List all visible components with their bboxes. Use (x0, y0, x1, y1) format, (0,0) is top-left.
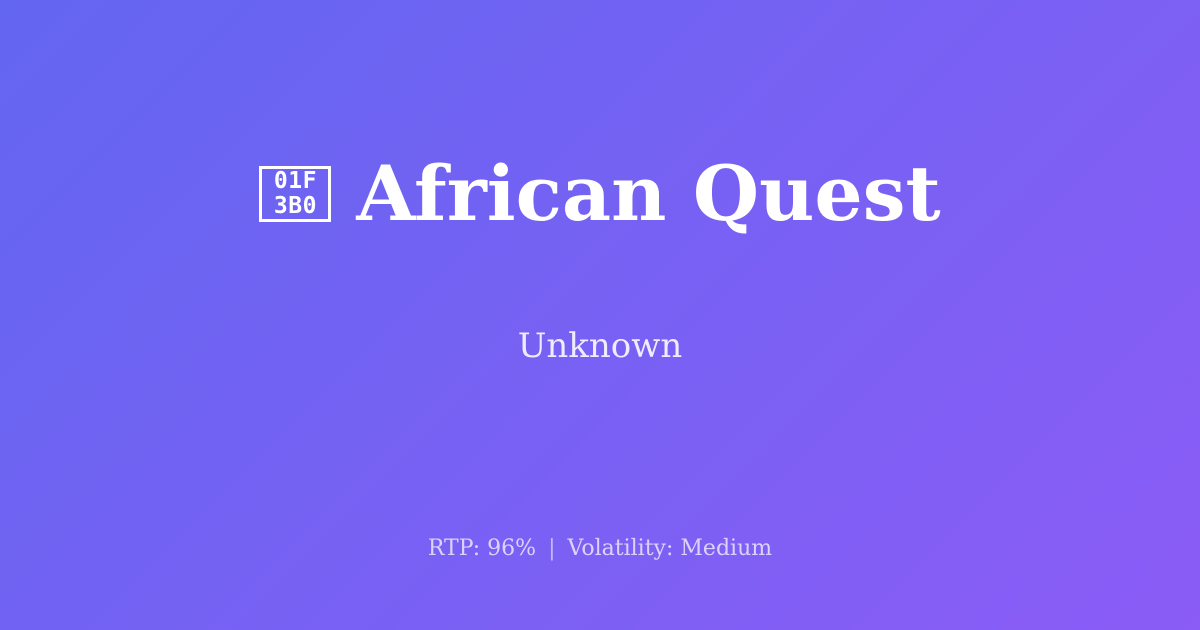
rtp-value: 96% (487, 536, 536, 561)
title-row: 01F 3B0 African Quest (259, 103, 940, 285)
slot-machine-icon: 01F 3B0 (259, 166, 331, 222)
og-share-card: 01F 3B0 African Quest Unknown RTP: 96% |… (0, 0, 1200, 630)
volatility-value: Medium (680, 536, 772, 561)
volatility-label: Volatility: (568, 536, 674, 561)
meta-separator: | (543, 536, 560, 561)
slot-machine-icon-hex-low: 3B0 (274, 194, 317, 218)
game-title: African Quest (356, 154, 940, 234)
slot-machine-icon-hex-high: 01F (274, 169, 317, 193)
hero-block: 01F 3B0 African Quest Unknown (0, 0, 1200, 470)
rtp-label: RTP: (428, 536, 480, 561)
game-meta-strip: RTP: 96% | Volatility: Medium (0, 535, 1200, 564)
game-provider: Unknown (518, 326, 683, 367)
